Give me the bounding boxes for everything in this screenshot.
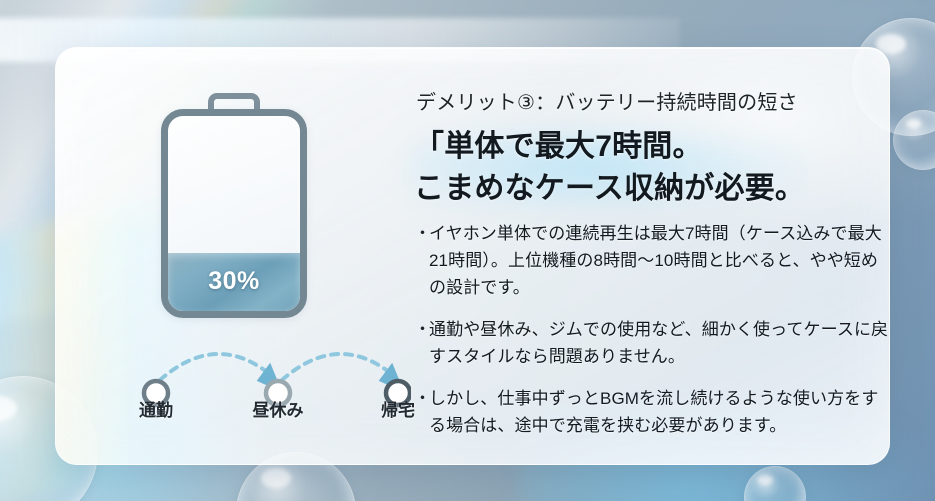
list-item: ・ イヤホン単体での連続再生は最大7時間（ケース込みで最大21時間）。上位機種の…	[414, 220, 890, 301]
list-item: ・ しかし、仕事中ずっとBGMを流し続けるような使い方をする場合は、途中で充電を…	[414, 385, 890, 439]
timeline-graphic	[56, 328, 411, 438]
bubble-icon	[744, 466, 806, 501]
bubble-icon	[893, 110, 935, 170]
content-card: 30%	[55, 47, 890, 465]
bullet-marker-icon: ・	[414, 385, 429, 439]
slide-canvas: 30%	[0, 0, 935, 501]
battery-illustration: 30%	[161, 93, 307, 318]
battery-percent-label: 30%	[168, 253, 300, 312]
subtitle: デメリット③：バッテリー持続時間の短さ	[416, 86, 798, 115]
bullet-text: 通勤や昼休み、ジムでの使用など、細かく使ってケースに戻すスタイルなら問題ありませ…	[429, 316, 890, 370]
timeline-label-lunch-break: 昼休み	[233, 396, 323, 421]
timeline-arc-2	[282, 354, 394, 380]
bullet-text: しかし、仕事中ずっとBGMを流し続けるような使い方をする場合は、途中で充電を挟む…	[429, 385, 890, 439]
timeline-arc-1	[160, 354, 272, 380]
timeline-label-commute: 通勤	[111, 396, 201, 421]
bullet-marker-icon: ・	[414, 220, 429, 301]
battery-body: 30%	[161, 109, 307, 318]
bullet-marker-icon: ・	[414, 316, 429, 370]
text-column: デメリット③：バッテリー持続時間の短さ 「単体で最大7時間。 こまめなケース収納…	[406, 48, 890, 465]
headline: 「単体で最大7時間。 こまめなケース収納が必要。	[414, 126, 884, 210]
headline-line-1: 「単体で最大7時間。	[414, 126, 884, 168]
headline-line-2: こまめなケース収納が必要。	[414, 168, 884, 210]
list-item: ・ 通勤や昼休み、ジムでの使用など、細かく使ってケースに戻すスタイルなら問題あり…	[414, 316, 890, 370]
bullet-list: ・ イヤホン単体での連続再生は最大7時間（ケース込みで最大21時間）。上位機種の…	[414, 220, 890, 454]
bullet-text: イヤホン単体での連続再生は最大7時間（ケース込みで最大21時間）。上位機種の8時…	[429, 220, 890, 301]
visual-column: 30%	[56, 48, 411, 465]
usage-timeline: 通勤 昼休み 帰宅	[56, 328, 411, 438]
